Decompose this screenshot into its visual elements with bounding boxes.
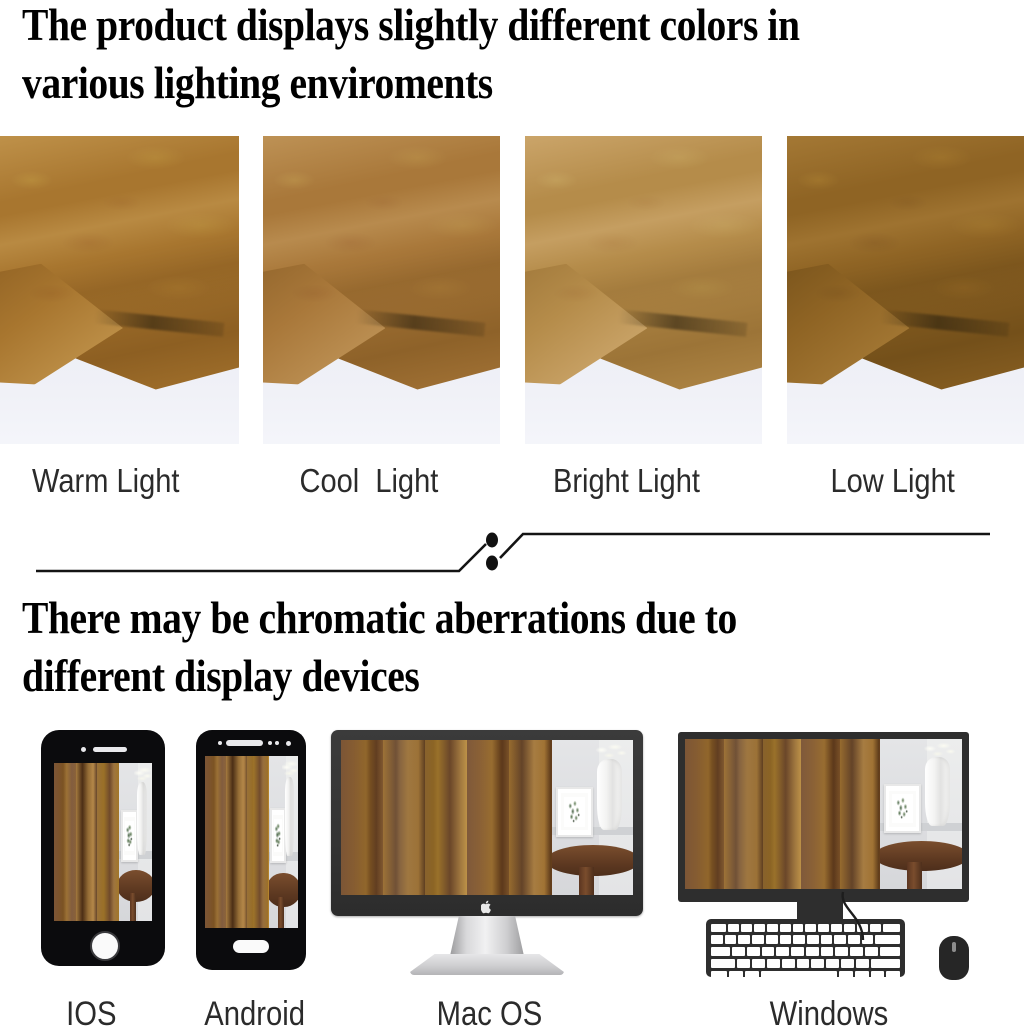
divider-dot-lower xyxy=(486,556,498,571)
lighting-heading: The product displays slightly different … xyxy=(22,0,1020,112)
windows-screen xyxy=(685,739,962,889)
table-leg xyxy=(907,862,922,889)
mac-stand-neck xyxy=(450,916,524,956)
divider-dot-upper xyxy=(486,533,498,548)
framed-art xyxy=(556,787,593,838)
curtain xyxy=(54,763,119,921)
keyboard-row-home xyxy=(711,947,900,956)
mouse-cable xyxy=(837,890,897,942)
device-iphone xyxy=(41,730,165,966)
lily-flowers xyxy=(134,763,151,788)
devices-heading: There may be chromatic aberrations due t… xyxy=(22,589,1020,705)
iphone-camera-dot xyxy=(81,747,86,752)
divider-line-right xyxy=(500,534,990,558)
fabric-swatch-0 xyxy=(0,136,239,444)
device-illustration-row xyxy=(0,730,1024,980)
fabric-photo xyxy=(525,136,762,444)
vase xyxy=(925,757,950,826)
android-screen xyxy=(205,756,298,928)
section-divider xyxy=(0,520,1024,580)
lily-flowers xyxy=(589,740,632,765)
room-scene xyxy=(551,740,633,895)
vase xyxy=(137,782,147,855)
device-windows-desktop xyxy=(661,730,1004,980)
framed-art xyxy=(270,808,286,864)
vase xyxy=(285,777,294,856)
fabric-photo xyxy=(787,136,1024,444)
iphone-screen xyxy=(54,763,152,921)
curtain xyxy=(685,739,879,889)
mouse-scroll-wheel[interactable] xyxy=(952,942,956,952)
mac-screen xyxy=(341,740,633,895)
fabric-swatch-row xyxy=(0,136,1024,444)
swatch-label-bright-light: Bright Light xyxy=(553,462,700,500)
room-scene xyxy=(879,739,962,889)
table-leg xyxy=(579,867,594,895)
device-label-android: Android xyxy=(204,995,305,1034)
android-sensor-dot-left xyxy=(218,741,222,745)
android-sensor-dot-b xyxy=(275,741,279,745)
divider-line-left xyxy=(36,544,486,571)
keyboard-row-space xyxy=(711,971,900,980)
fabric-swatch-2 xyxy=(525,136,762,444)
computer-mouse[interactable] xyxy=(939,936,969,980)
framed-art xyxy=(121,810,138,861)
device-android-phone xyxy=(196,730,306,970)
fabric-swatch-1 xyxy=(263,136,500,444)
curtain xyxy=(205,756,268,928)
iphone-home-button[interactable] xyxy=(90,931,120,961)
fabric-swatch-3 xyxy=(787,136,1024,444)
device-label-ios: IOS xyxy=(66,995,116,1034)
device-apple-display xyxy=(331,730,643,975)
android-camera-dot xyxy=(286,741,291,746)
keyboard-row-bottom-letters xyxy=(711,959,900,968)
framed-art xyxy=(884,784,921,833)
lily-flowers xyxy=(917,739,960,763)
table-leg xyxy=(278,897,283,928)
room-scene xyxy=(119,763,152,921)
lily-flowers xyxy=(282,756,297,784)
swatch-label-cool-light: Cool Light xyxy=(299,462,438,500)
apple-logo-icon xyxy=(481,900,493,914)
swatch-label-warm-light: Warm Light xyxy=(32,462,179,500)
android-speaker-slot xyxy=(226,740,263,746)
room-scene xyxy=(268,756,298,928)
swatch-label-low-light: Low Light xyxy=(830,462,954,500)
mac-stand-base xyxy=(410,954,564,975)
android-sensor-dot-a xyxy=(268,741,272,745)
fabric-photo xyxy=(0,136,239,444)
device-label-windows: Windows xyxy=(770,995,889,1034)
curtain xyxy=(341,740,551,895)
iphone-speaker-slot xyxy=(93,747,127,752)
fabric-photo xyxy=(263,136,500,444)
device-label-macos: Mac OS xyxy=(437,995,543,1034)
vase xyxy=(597,759,622,830)
android-home-button[interactable] xyxy=(233,940,269,953)
table-leg xyxy=(130,893,136,921)
